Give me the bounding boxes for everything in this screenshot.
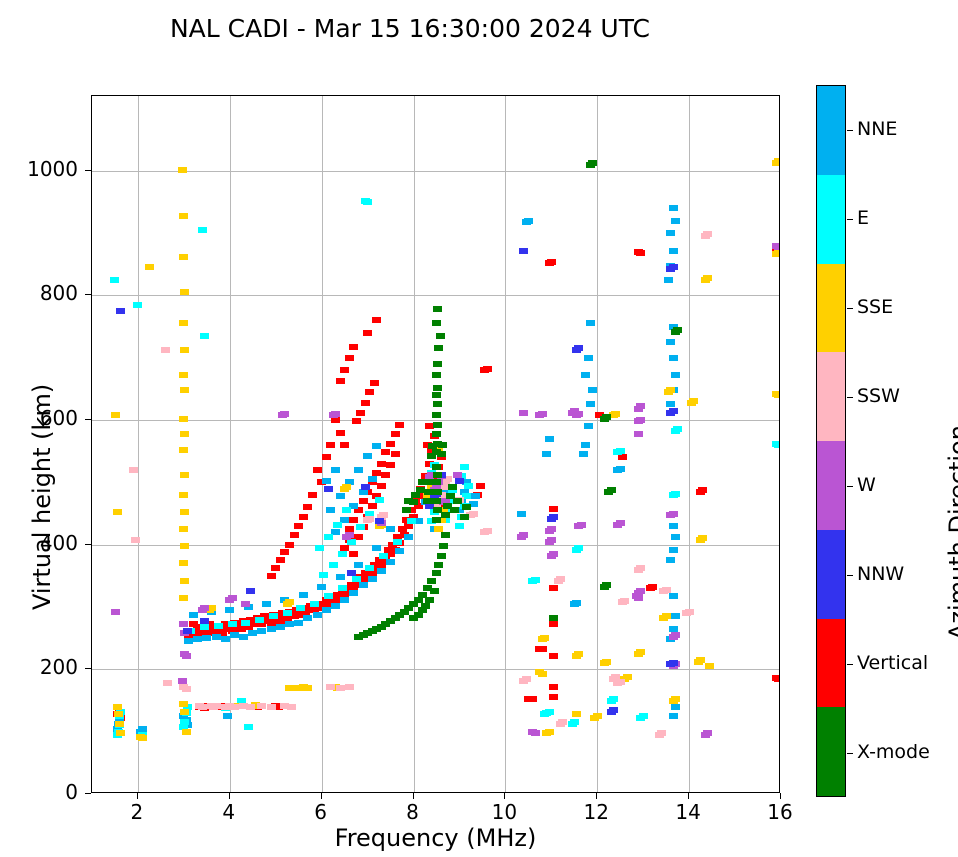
data-point-e: [198, 227, 207, 233]
data-point-w: [331, 411, 340, 417]
data-point-ssw: [161, 347, 170, 353]
data-point-x-mode: [423, 498, 432, 504]
x-tick: [413, 793, 414, 799]
data-point-x-mode: [432, 517, 441, 523]
data-point-nne: [368, 476, 377, 482]
data-point-vertical: [363, 330, 372, 336]
data-point-e: [324, 534, 333, 540]
data-point-nne: [666, 230, 675, 236]
data-point-x-mode: [673, 327, 682, 333]
data-point-sse: [180, 472, 189, 478]
data-point-nne: [189, 612, 198, 618]
data-point-nne: [336, 493, 345, 499]
data-point-vertical: [538, 646, 547, 652]
data-point-nne: [239, 634, 248, 640]
data-point-nne: [313, 612, 322, 618]
data-point-sse: [593, 713, 602, 719]
ionogram-figure: NAL CADI - Mar 15 16:30:00 2024 UTC 2468…: [0, 0, 958, 857]
data-point-nne: [669, 355, 678, 361]
data-point-nne: [572, 600, 581, 606]
data-point-e: [407, 518, 416, 524]
data-point-nne: [230, 632, 239, 638]
data-point-nne: [212, 634, 221, 640]
data-point-sse: [178, 167, 187, 173]
data-point-vertical: [549, 506, 558, 512]
data-point-e: [319, 572, 328, 578]
colorbar-segment-ssw[interactable]: [817, 352, 845, 441]
data-point-w: [549, 551, 558, 557]
data-point-sse: [285, 599, 294, 605]
data-point-nne: [193, 636, 202, 642]
data-point-vertical: [361, 400, 370, 406]
colorbar-label-ssw: SSW: [857, 385, 900, 407]
colorbar-label-e: E: [857, 207, 869, 229]
y-tick: [85, 170, 91, 171]
data-point-sse: [180, 578, 189, 584]
data-point-x-mode: [436, 333, 445, 339]
data-point-nne: [354, 467, 363, 473]
colorbar-segment-vertical[interactable]: [817, 619, 845, 708]
data-point-w: [547, 526, 556, 532]
data-point-vertical: [294, 523, 303, 529]
data-point-e: [283, 610, 292, 616]
x-axis-label: Frequency (MHz): [91, 824, 780, 852]
data-point-nne: [524, 218, 533, 224]
data-point-nne: [294, 620, 303, 626]
data-point-e: [244, 724, 253, 730]
data-point-ssw: [198, 704, 207, 710]
data-point-x-mode: [432, 479, 441, 485]
colorbar-tick: [847, 664, 853, 665]
data-point-nne: [545, 436, 554, 442]
data-point-ssw: [131, 537, 140, 543]
data-point-sse: [179, 701, 188, 707]
y-tick: [85, 419, 91, 420]
data-point-nne: [588, 387, 597, 393]
data-point-e: [545, 709, 554, 715]
data-point-w: [570, 408, 579, 414]
colorbar-axis-label: Azimuth Direction: [944, 425, 958, 640]
data-point-ssw: [267, 704, 276, 710]
colorbar-tick: [847, 397, 853, 398]
data-point-e: [531, 577, 540, 583]
y-tick-label: 800: [0, 281, 78, 305]
data-point-e: [673, 426, 682, 432]
data-point-ssw: [230, 704, 239, 710]
data-point-ssw: [556, 576, 565, 582]
colorbar[interactable]: [816, 85, 846, 797]
data-point-sse: [180, 347, 189, 353]
data-point-e: [241, 620, 250, 626]
data-point-vertical: [549, 585, 558, 591]
data-point-nne: [671, 372, 680, 378]
data-point-ssw: [257, 703, 266, 709]
data-point-nne: [581, 372, 590, 378]
data-point-w: [774, 244, 780, 250]
data-point-nne: [579, 451, 588, 457]
scatter-data-layer: [92, 96, 779, 792]
data-point-sse: [115, 721, 124, 727]
data-point-x-mode: [432, 570, 441, 576]
data-point-nnw: [669, 264, 678, 270]
data-point-nne: [586, 401, 595, 407]
data-point-x-mode: [433, 422, 442, 428]
data-point-sse: [179, 492, 188, 498]
data-point-x-mode: [427, 578, 436, 584]
data-point-vertical: [636, 250, 645, 256]
data-point-ssw: [657, 730, 666, 736]
data-point-e: [180, 719, 189, 725]
data-point-nne: [471, 493, 480, 499]
data-point-x-mode: [462, 504, 471, 510]
data-point-x-mode: [588, 160, 597, 166]
data-point-sse: [666, 387, 675, 393]
x-tick-label: 6: [291, 800, 351, 824]
data-point-x-mode: [424, 489, 433, 495]
data-point-nne: [666, 401, 675, 407]
data-point-nne: [666, 339, 675, 345]
colorbar-tick: [847, 308, 853, 309]
data-point-e: [609, 696, 618, 702]
data-point-ssw: [611, 674, 620, 680]
data-point-vertical: [476, 483, 485, 489]
data-point-nne: [664, 277, 673, 283]
data-point-x-mode: [354, 634, 363, 640]
data-point-x-mode: [602, 582, 611, 588]
data-point-e: [110, 277, 119, 283]
data-point-e: [455, 523, 464, 529]
data-point-nne: [669, 248, 678, 254]
data-point-ssw: [326, 684, 335, 690]
data-point-sse: [180, 431, 189, 437]
data-point-x-mode: [448, 484, 457, 490]
data-point-vertical: [336, 430, 345, 436]
data-point-x-mode: [433, 489, 442, 495]
data-point-nne: [317, 584, 326, 590]
x-tick-label: 8: [383, 800, 443, 824]
data-point-nne: [671, 704, 680, 710]
data-point-sse: [342, 484, 351, 490]
data-point-vertical: [368, 503, 377, 509]
data-point-nne: [326, 507, 335, 513]
plot-area: [91, 95, 780, 793]
data-point-ssw: [287, 704, 296, 710]
data-point-x-mode: [432, 372, 441, 378]
data-point-vertical: [365, 389, 374, 395]
data-point-nne: [257, 628, 266, 634]
data-point-x-mode: [432, 464, 441, 470]
data-point-nne: [377, 568, 386, 574]
x-tick: [688, 793, 689, 799]
data-point-vertical: [386, 462, 395, 468]
data-point-ssw: [129, 467, 138, 473]
data-point-e: [200, 624, 209, 630]
data-point-w: [634, 595, 643, 601]
data-point-vertical: [648, 584, 657, 590]
y-tick: [85, 294, 91, 295]
data-point-vertical: [549, 653, 558, 659]
data-point-w: [671, 632, 680, 638]
data-point-e: [228, 621, 237, 627]
data-point-sse: [113, 509, 122, 515]
data-point-ssw: [182, 686, 191, 692]
data-point-e: [356, 524, 365, 530]
data-point-nnw: [324, 486, 333, 492]
data-point-ssw: [558, 719, 567, 725]
data-point-sse: [182, 729, 191, 735]
data-point-w: [228, 595, 237, 601]
data-point-sse: [611, 411, 620, 417]
y-tick: [85, 793, 91, 794]
data-point-e: [574, 545, 583, 551]
data-point-vertical: [326, 442, 335, 448]
data-point-w: [345, 532, 354, 538]
data-point-vertical: [349, 551, 358, 557]
colorbar-label-nne: NNE: [857, 118, 897, 140]
data-point-vertical: [352, 418, 361, 424]
data-point-x-mode: [433, 361, 442, 367]
data-point-vertical: [345, 526, 354, 532]
data-point-x-mode: [433, 385, 442, 391]
data-point-nne: [262, 601, 271, 607]
data-point-sse: [179, 447, 188, 453]
data-point-vertical: [345, 355, 354, 361]
data-point-ssw: [662, 587, 671, 593]
data-point-e: [639, 713, 648, 719]
data-point-sse: [179, 595, 188, 601]
data-point-ssw: [246, 704, 255, 710]
data-point-vertical: [303, 504, 312, 510]
data-point-vertical: [340, 545, 349, 551]
data-point-e: [315, 545, 324, 551]
data-point-nne: [584, 423, 593, 429]
data-point-sse: [303, 685, 312, 691]
data-point-w: [280, 411, 289, 417]
data-point-sse: [662, 613, 671, 619]
data-point-vertical: [549, 621, 558, 627]
data-point-e: [255, 617, 264, 623]
data-point-x-mode: [421, 603, 430, 609]
colorbar-label-sse: SSE: [857, 296, 893, 318]
data-point-sse: [179, 526, 188, 532]
data-point-x-mode: [439, 543, 448, 549]
data-point-e: [464, 483, 473, 489]
data-point-x-mode: [434, 562, 443, 568]
x-tick: [780, 793, 781, 799]
data-point-vertical: [267, 573, 276, 579]
data-point-nne: [404, 534, 413, 540]
data-point-vertical: [698, 487, 707, 493]
data-point-nnw: [669, 408, 678, 414]
data-point-x-mode: [432, 431, 441, 437]
data-point-sse: [114, 711, 123, 717]
data-point-sse: [572, 711, 581, 717]
data-point-sse: [545, 729, 554, 735]
colorbar-tick: [847, 575, 853, 576]
x-tick: [504, 793, 505, 799]
data-point-x-mode: [441, 512, 450, 518]
data-point-sse: [179, 320, 188, 326]
data-point-sse: [434, 526, 443, 532]
colorbar-segment-nnw[interactable]: [817, 530, 845, 619]
data-point-sse: [111, 412, 120, 418]
x-tick-label: 10: [474, 800, 534, 824]
data-point-nne: [331, 603, 340, 609]
x-tick-label: 2: [107, 800, 167, 824]
data-point-sse: [538, 671, 547, 677]
data-point-vertical: [356, 410, 365, 416]
data-point-nne: [285, 621, 294, 627]
data-point-vertical: [336, 378, 345, 384]
data-point-vertical: [549, 684, 558, 690]
data-point-x-mode: [460, 514, 469, 520]
data-point-sse: [113, 704, 122, 710]
data-point-sse: [636, 649, 645, 655]
data-point-vertical: [386, 441, 395, 447]
data-point-nne: [368, 576, 377, 582]
data-point-nnw: [669, 660, 678, 666]
data-point-ssw: [522, 676, 531, 682]
data-point-sse: [179, 560, 188, 566]
data-point-w: [636, 417, 645, 423]
colorbar-segment-x-mode[interactable]: [817, 707, 845, 796]
data-point-nne: [584, 355, 593, 361]
data-point-sse: [180, 509, 189, 515]
data-point-e: [772, 441, 780, 447]
data-point-e: [200, 333, 209, 339]
data-point-e: [460, 464, 469, 470]
data-point-nne: [517, 511, 526, 517]
data-point-ssw: [163, 680, 172, 686]
x-tick-label: 16: [750, 800, 810, 824]
x-tick-label: 4: [199, 800, 259, 824]
data-point-vertical: [308, 492, 317, 498]
x-tick-label: 12: [566, 800, 626, 824]
data-point-sse: [145, 264, 154, 270]
data-point-sse: [179, 213, 188, 219]
data-point-vertical: [372, 470, 381, 476]
data-point-nne: [581, 442, 590, 448]
data-point-vertical: [483, 366, 492, 372]
data-point-vertical: [340, 367, 349, 373]
data-point-vertical: [381, 449, 390, 455]
data-point-sse: [180, 543, 189, 549]
data-point-x-mode: [404, 498, 413, 504]
data-point-sse: [602, 659, 611, 665]
data-point-sse: [689, 398, 698, 404]
data-point-nne: [349, 590, 358, 596]
data-point-nnw: [549, 514, 558, 520]
data-point-nne: [184, 638, 193, 644]
colorbar-label-vertical: Vertical: [857, 652, 928, 674]
data-point-ssw: [703, 231, 712, 237]
data-point-nnw: [116, 308, 125, 314]
colorbar-segment-w[interactable]: [817, 441, 845, 530]
data-point-x-mode: [418, 479, 427, 485]
data-point-x-mode: [432, 498, 441, 504]
colorbar-label-w: W: [857, 474, 876, 496]
data-point-x-mode: [602, 414, 611, 420]
x-tick: [229, 793, 230, 799]
data-point-sse: [671, 696, 680, 702]
data-point-nnw: [347, 570, 356, 576]
data-point-w: [453, 472, 462, 478]
data-point-nne: [336, 574, 345, 580]
colorbar-segment-e[interactable]: [817, 175, 845, 264]
data-point-e: [375, 497, 384, 503]
data-point-nne: [303, 615, 312, 621]
data-point-vertical: [340, 442, 349, 448]
data-point-x-mode: [402, 507, 411, 513]
data-point-nne: [372, 545, 381, 551]
data-point-w: [636, 403, 645, 409]
data-point-e: [310, 601, 319, 607]
x-tick: [137, 793, 138, 799]
data-point-nne: [340, 597, 349, 603]
data-point-w: [577, 522, 586, 528]
data-point-e: [269, 613, 278, 619]
data-point-e: [333, 522, 342, 528]
data-point-sse: [179, 416, 188, 422]
data-point-nnw: [361, 484, 370, 490]
data-point-x-mode: [430, 588, 439, 594]
data-point-vertical: [313, 467, 322, 473]
data-point-w: [616, 520, 625, 526]
data-point-w: [531, 730, 540, 736]
data-point-vertical: [359, 498, 368, 504]
data-point-nnw: [183, 628, 192, 634]
data-point-vertical: [299, 514, 308, 520]
y-tick-label: 1000: [0, 157, 78, 181]
data-point-sse: [772, 160, 780, 166]
data-point-vertical: [290, 532, 299, 538]
y-tick: [85, 668, 91, 669]
data-point-x-mode: [433, 401, 442, 407]
data-point-nnw: [200, 618, 209, 624]
data-point-nne: [276, 624, 285, 630]
y-axis-label: Virtual height (km): [28, 384, 56, 610]
data-point-sse: [180, 709, 189, 715]
data-point-nne: [359, 582, 368, 588]
data-point-ssw: [620, 598, 629, 604]
data-point-ssw: [212, 703, 221, 709]
data-point-nnw: [455, 478, 464, 484]
page-title: NAL CADI - Mar 15 16:30:00 2024 UTC: [0, 14, 820, 43]
data-point-nne: [669, 547, 678, 553]
data-point-e: [570, 719, 579, 725]
data-point-vertical: [391, 431, 400, 437]
data-point-nnw: [246, 588, 255, 594]
data-point-vertical: [285, 542, 294, 548]
data-point-e: [365, 565, 374, 571]
data-point-nne: [223, 713, 232, 719]
data-point-nne: [671, 534, 680, 540]
data-point-vertical: [377, 483, 386, 489]
data-point-nne: [669, 626, 678, 632]
data-point-x-mode: [453, 498, 462, 504]
data-point-x-mode: [441, 532, 450, 538]
y-tick-label: 0: [0, 780, 78, 804]
data-point-vertical: [772, 675, 780, 681]
colorbar-segment-nne[interactable]: [817, 86, 845, 175]
data-point-e: [352, 576, 361, 582]
y-tick: [85, 544, 91, 545]
data-point-nne: [616, 466, 625, 472]
colorbar-segment-sse[interactable]: [817, 264, 845, 353]
data-point-x-mode: [432, 412, 441, 418]
data-point-vertical: [322, 454, 331, 460]
data-point-w: [538, 411, 547, 417]
